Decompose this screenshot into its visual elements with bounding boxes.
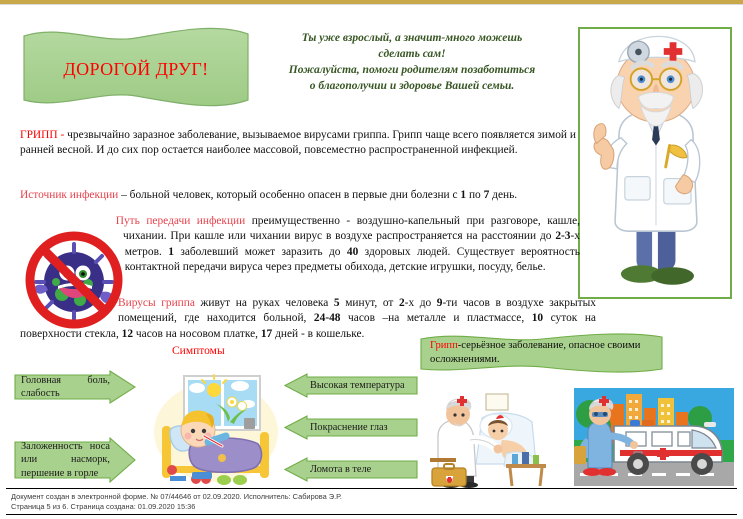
virus-prohibition-illustration [22,228,126,332]
header-line-3: Пожалуйста, помоги родителям позаботитьс… [252,62,572,78]
metal-plastic-hours: 24-48 [314,312,341,324]
footer-metadata: Документ создан в электронной форме. № 0… [11,492,611,513]
survival-h: дней - в кошельке. [272,328,364,340]
elderly-cartoon-doctor-icon [580,29,730,297]
doctor-illustration-frame [578,27,732,299]
symptom-callout-redeyes-label: Покраснение глаз [310,415,411,440]
doctor-examining-illustration [424,392,564,488]
header-line-4: о благополучии и здоровье Вашей семьи. [252,78,572,94]
complications-box: Грипп-серьёзное заболевание, опасное сво… [420,333,663,375]
ambulance-with-doctor-icon [574,388,734,486]
banner-ribbon: ДОРОГОЙ ДРУГ! [22,26,250,112]
wallet-days: 17 [261,328,272,340]
poster-page: ДОРОГОЙ ДРУГ! Ты уже взрослый, а значит-… [0,0,743,519]
paragraph-transmission-lead: Путь передачи инфекции [116,215,245,227]
complications-text: Грипп-серьёзное заболевание, опасное сво… [430,339,655,367]
paragraph-definition-text: чрезвычайно заразное заболевание, вызыва… [20,129,576,156]
symptom-callout-fever: Высокая температура [284,373,418,398]
complications-lead: Грипп [430,340,458,351]
footer-line-1: Документ создан в электронной форме. № 0… [11,492,611,502]
symptom-callout-redeyes: Покраснение глаз [284,415,418,440]
symptom-callout-nose-label: Заложенность носа или насморк, першение … [21,437,110,483]
survival-b: минут, от [340,297,399,309]
symptom-callout-bodyache-label: Ломота в теле [310,457,411,482]
paragraph-source-a: – больной человек, который особенно опас… [118,189,460,201]
sick-child-in-bed-icon [148,370,284,488]
virus-prohibition-sign-icon [22,228,126,332]
symptom-callout-bodyache: Ломота в теле [284,457,418,482]
ambulance-illustration [574,388,734,486]
paragraph-source-b: по [466,189,484,201]
doctor-examining-child-icon [424,392,564,488]
page-top-rule [0,0,743,5]
complications-rest: -серьёзное заболевание, опасное своими о… [430,340,640,365]
symptom-callout-fever-label: Высокая температура [310,373,411,398]
survival-g: часов на носовом платке, [133,328,261,340]
glass-days: 10 [532,312,543,324]
survival-e: часов –на металле и пластмассе, [341,312,532,324]
sick-child-illustration [148,370,284,488]
header-message: Ты уже взрослый, а значит-много можешь с… [252,30,572,94]
header-line-2: сделать сам! [252,46,572,62]
footer-line-2: Страница 5 из 6. Страница создана: 01.09… [11,502,611,512]
paragraph-source-c: день. [489,189,517,201]
symptom-callout-headache-label: Головная боль, слабость [21,370,110,404]
footer-divider-top [6,488,737,489]
paragraph-source-lead: Источник инфекции [20,189,118,201]
distance-meters: 2-3 [555,230,570,242]
paragraph-source: Источник инфекции – больной человек, кот… [20,188,580,203]
symptom-callout-nose: Заложенность носа или насморк, першение … [14,437,136,483]
symptom-callout-headache: Головная боль, слабость [14,370,136,404]
paragraph-transmission-c: заболевший может заразить до [174,246,347,258]
header-line-1: Ты уже взрослый, а значит-много можешь [252,30,572,46]
paragraph-survival-lead: Вирусы гриппа [118,297,195,309]
footer-divider-bottom [6,514,737,515]
survival-c: -х до [405,297,437,309]
survival-a: живут на руках человека [195,297,334,309]
symptoms-title: Симптомы [172,345,225,357]
can-infect-count: 40 [347,246,358,258]
banner-title: ДОРОГОЙ ДРУГ! [22,26,250,112]
paragraph-definition: ГРИПП - чрезвычайно заразное заболевание… [20,128,576,159]
paragraph-definition-lead: ГРИПП - [20,129,67,141]
